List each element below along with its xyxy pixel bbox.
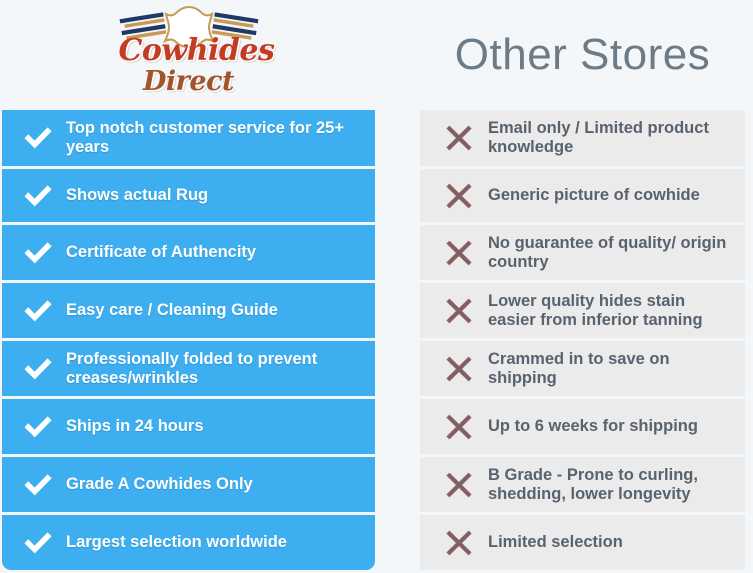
cross-icon xyxy=(434,355,484,383)
check-icon xyxy=(16,357,60,381)
cross-icon xyxy=(434,124,484,152)
con-row: Lower quality hides stain easier from in… xyxy=(420,283,745,338)
logo-word-direct: Direct xyxy=(119,68,259,95)
pro-row-label: Professionally folded to prevent creases… xyxy=(60,350,367,388)
con-row: Email only / Limited product knowledge xyxy=(420,110,745,166)
con-row: No guarantee of quality/ origin country xyxy=(420,225,745,280)
check-icon xyxy=(16,473,60,497)
con-row: Generic picture of cowhide xyxy=(420,169,745,222)
check-icon xyxy=(16,299,60,323)
pro-row: Top notch customer service for 25+ years xyxy=(2,110,375,166)
logo-word-cowhides: Cowhides xyxy=(119,36,259,66)
pro-row: Easy care / Cleaning Guide xyxy=(2,283,375,338)
con-row-label: B Grade - Prone to curling, shedding, lo… xyxy=(484,466,737,504)
pro-row: Shows actual Rug xyxy=(2,169,375,222)
cross-icon xyxy=(434,529,484,557)
check-icon xyxy=(16,241,60,265)
pro-row-label: Easy care / Cleaning Guide xyxy=(60,301,367,320)
pro-row-label: Shows actual Rug xyxy=(60,186,367,205)
pro-row: Professionally folded to prevent creases… xyxy=(2,341,375,396)
pro-row-label: Certificate of Authencity xyxy=(60,243,367,262)
con-row: B Grade - Prone to curling, shedding, lo… xyxy=(420,457,745,512)
check-icon xyxy=(16,126,60,150)
comparison-table: Cowhides Direct Other Stores Top notch c… xyxy=(0,0,753,571)
con-row: Crammed in to save on shipping xyxy=(420,341,745,396)
con-row-label: Lower quality hides stain easier from in… xyxy=(484,292,737,330)
pro-row: Ships in 24 hours xyxy=(2,399,375,454)
cross-icon xyxy=(434,239,484,267)
cross-icon xyxy=(434,413,484,441)
con-row-label: No guarantee of quality/ origin country xyxy=(484,234,737,272)
brand-header-cell: Cowhides Direct xyxy=(2,0,375,110)
check-icon xyxy=(16,184,60,208)
con-row-label: Up to 6 weeks for shipping xyxy=(484,417,737,436)
con-row-label: Generic picture of cowhide xyxy=(484,186,737,205)
other-stores-column: Email only / Limited product knowledgeGe… xyxy=(420,110,745,573)
pro-row: Certificate of Authencity xyxy=(2,225,375,280)
con-row: Limited selection xyxy=(420,515,745,570)
check-icon xyxy=(16,415,60,439)
pro-row-label: Top notch customer service for 25+ years xyxy=(60,119,367,157)
cowhides-direct-logo: Cowhides Direct xyxy=(119,6,259,104)
con-row: Up to 6 weeks for shipping xyxy=(420,399,745,454)
other-stores-title: Other Stores xyxy=(455,33,710,77)
con-row-label: Limited selection xyxy=(484,533,737,552)
cross-icon xyxy=(434,471,484,499)
cowhides-direct-column: Top notch customer service for 25+ years… xyxy=(2,110,375,573)
pro-row-label: Ships in 24 hours xyxy=(60,417,367,436)
con-row-label: Email only / Limited product knowledge xyxy=(484,119,737,157)
pro-row-label: Largest selection worldwide xyxy=(60,533,367,552)
pro-row-label: Grade A Cowhides Only xyxy=(60,475,367,494)
comparison-header: Cowhides Direct Other Stores xyxy=(0,0,753,110)
check-icon xyxy=(16,531,60,555)
con-row-label: Crammed in to save on shipping xyxy=(484,350,737,388)
cross-icon xyxy=(434,182,484,210)
pro-row: Largest selection worldwide xyxy=(2,515,375,570)
pro-row: Grade A Cowhides Only xyxy=(2,457,375,512)
cross-icon xyxy=(434,297,484,325)
competitor-header-cell: Other Stores xyxy=(420,0,745,110)
